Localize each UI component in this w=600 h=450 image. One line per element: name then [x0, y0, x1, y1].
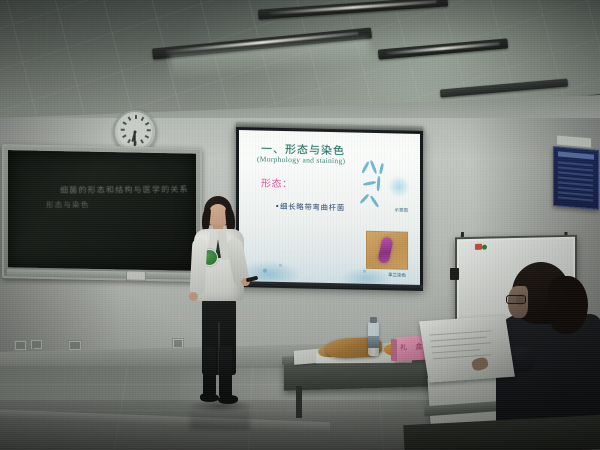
- projection-screen: 一、形态与染色 (Morphology and staining) 形态： •细…: [236, 127, 423, 289]
- blackboard-surface: 细菌的形态和结构与医学的关系 形态与染色: [8, 150, 196, 271]
- pink-box-text: 礼 盒: [400, 342, 425, 353]
- slide-content: 一、形态与染色 (Morphology and staining) 形态： •细…: [239, 130, 420, 286]
- slide-subtitle: (Morphology and staining): [257, 154, 345, 165]
- wall-speaker: [450, 268, 459, 280]
- micrograph-bacillus: [377, 236, 393, 264]
- magnet-red-icon: [475, 244, 482, 250]
- wall-notice-board: [553, 146, 599, 210]
- slide-bullet-text: •细长略带弯曲杆菌: [275, 201, 345, 214]
- slide-micrograph-caption: 革兰染色: [388, 272, 406, 278]
- slide-morphology-diagram: 示意图: [360, 159, 412, 212]
- classroom-photo: 细菌的形态和结构与医学的关系 形态与染色 一、形态与染色 (Morphology…: [0, 0, 600, 450]
- presenter-floor-reflection: [190, 404, 250, 430]
- water-bottle: [368, 322, 379, 356]
- glasses-icon: [506, 295, 526, 304]
- blackboard: 细菌的形态和结构与医学的关系 形态与染色: [2, 144, 202, 282]
- bottle-label: [368, 336, 379, 348]
- presenter-shoe: [218, 395, 238, 404]
- board-clip: [126, 270, 146, 280]
- slide-section-label: 形态：: [261, 175, 293, 191]
- presenter: [182, 196, 256, 412]
- wall-outlet: [14, 340, 27, 351]
- student-handout: [419, 315, 515, 382]
- slide-diagram-caption: 示意图: [395, 207, 409, 213]
- chalk-tray: [7, 269, 197, 280]
- chalk-text-line2: 形态与染色: [46, 199, 90, 210]
- clock-minute-hand: [134, 132, 136, 146]
- presenter-arm-left: [189, 238, 207, 297]
- slide-micrograph: [366, 231, 408, 270]
- presenter-shoe: [200, 393, 219, 402]
- table-leg: [296, 386, 302, 418]
- chalk-text-line1: 细菌的形态和结构与医学的关系: [60, 184, 189, 196]
